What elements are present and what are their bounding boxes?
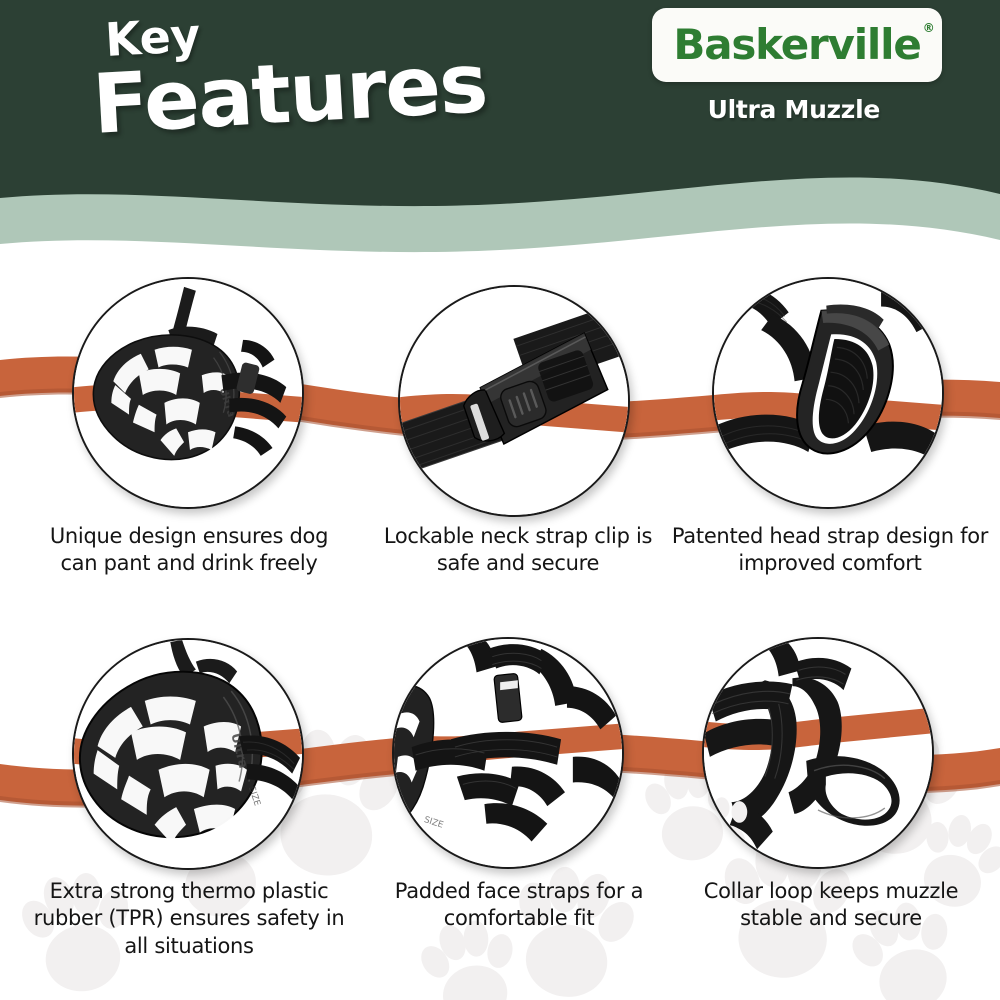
brand-name-text: Baskerville — [673, 20, 920, 69]
feature-caption-collar-loop: Collar loop keeps muzzle stable and secu… — [672, 878, 990, 933]
feature-photo-lockable-clip — [398, 285, 630, 517]
product-name-label: Ultra Muzzle — [708, 95, 880, 124]
title-line-features: Features — [91, 44, 489, 146]
feature-photo-padded-straps: SIZE — [392, 637, 624, 869]
feature-caption-lockable-clip: Lockable neck strap clip is safe and sec… — [368, 523, 668, 578]
registered-trademark-icon: ® — [923, 22, 934, 34]
feature-caption-unique-design: Unique design ensures dog can pant and d… — [34, 523, 344, 578]
feature-photo-unique-design: Ultra — [72, 277, 304, 509]
feature-caption-head-strap: Patented head strap design for improved … — [670, 523, 990, 578]
key-features-infographic: Key Features Baskerville ® Ultra Muzzle — [0, 0, 1000, 1000]
feature-caption-padded-straps: Padded face straps for a comfortable fit — [372, 878, 666, 933]
page-title: Key Features — [88, 0, 489, 146]
feature-photo-head-strap — [712, 277, 944, 509]
brand-wordmark: Baskerville ® — [673, 24, 920, 66]
feature-caption-tpr-material: Extra strong thermo plastic rubber (TPR)… — [30, 878, 348, 960]
feature-photo-tpr-material: Ultra SIZE — [72, 638, 304, 870]
brand-logo-card: Baskerville ® — [652, 8, 942, 82]
header-content: Key Features Baskerville ® Ultra Muzzle — [0, 0, 1000, 200]
feature-photo-collar-loop — [702, 637, 934, 869]
